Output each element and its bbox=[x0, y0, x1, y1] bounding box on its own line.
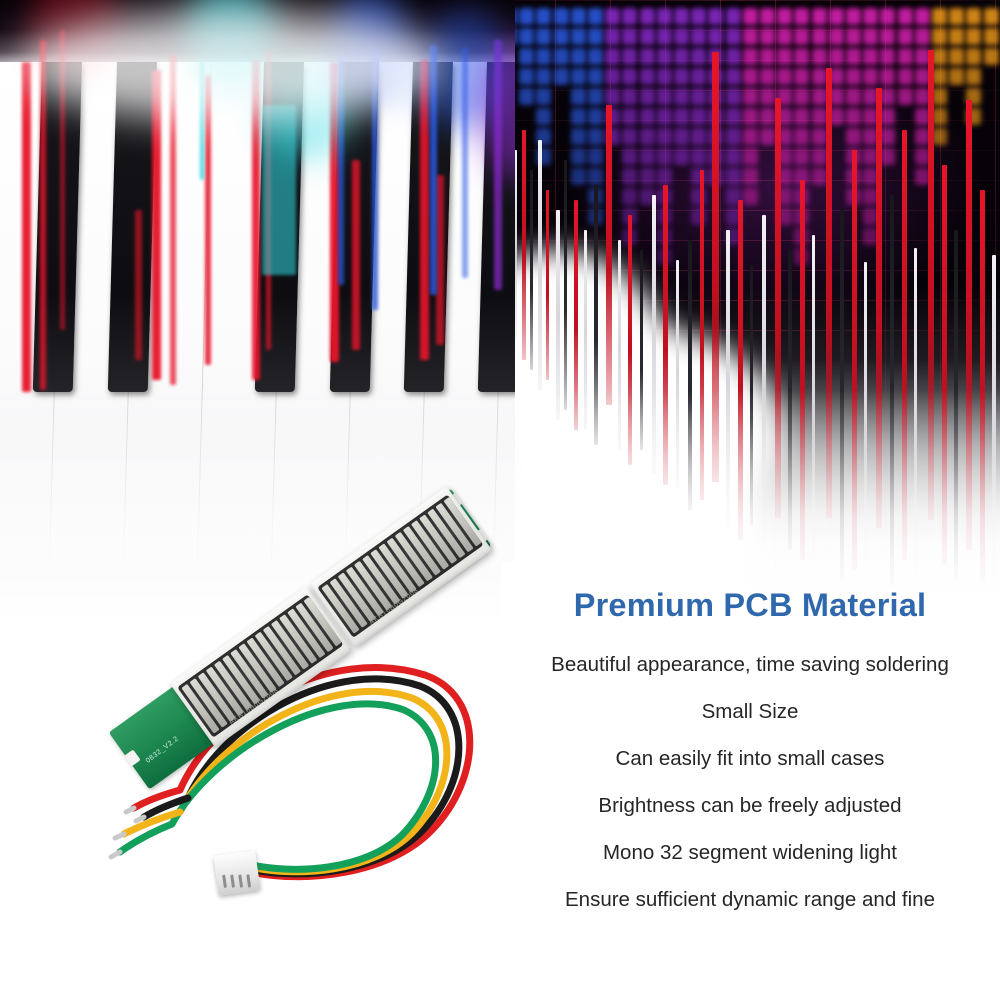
led-matrix-cell bbox=[743, 8, 758, 25]
led-matrix-cell bbox=[622, 188, 637, 205]
led-matrix-cell bbox=[657, 68, 672, 85]
waveform-spike bbox=[890, 195, 894, 585]
led-matrix-cell bbox=[622, 48, 637, 65]
led-matrix-cell bbox=[622, 108, 637, 125]
led-matrix-cell bbox=[640, 88, 655, 105]
waveform-spike bbox=[688, 240, 692, 510]
led-matrix-cell bbox=[880, 128, 895, 145]
waveform-spike bbox=[564, 160, 567, 410]
led-matrix-cell bbox=[726, 48, 741, 65]
led-matrix-cell bbox=[966, 28, 981, 45]
led-matrix-cell bbox=[949, 68, 964, 85]
led-matrix-cell bbox=[932, 128, 947, 145]
led-matrix-cell bbox=[777, 28, 792, 45]
led-matrix-cell bbox=[554, 8, 569, 25]
led-matrix-cell bbox=[674, 68, 689, 85]
led-matrix-cell bbox=[915, 28, 930, 45]
waveform-spike bbox=[628, 215, 632, 465]
waveform-spike bbox=[750, 265, 753, 525]
led-matrix-cell bbox=[743, 48, 758, 65]
led-matrix-cell bbox=[880, 8, 895, 25]
led-matrix-cell bbox=[674, 88, 689, 105]
led-matrix-cell bbox=[605, 8, 620, 25]
led-matrix-cell bbox=[949, 8, 964, 25]
marketing-text-panel: Premium PCB Material Beautiful appearanc… bbox=[500, 588, 1000, 928]
led-matrix-cell bbox=[812, 28, 827, 45]
led-matrix-cell bbox=[536, 48, 551, 65]
headline: Premium PCB Material bbox=[500, 588, 1000, 624]
pcb-silkscreen-label: 0832_V2.2 bbox=[145, 735, 180, 764]
led-matrix-cell bbox=[829, 8, 844, 25]
led-matrix-cell bbox=[880, 28, 895, 45]
led-matrix-cell bbox=[640, 48, 655, 65]
waveform-spike bbox=[914, 248, 917, 578]
led-matrix-cell bbox=[657, 168, 672, 185]
led-matrix-cell bbox=[554, 48, 569, 65]
led-matrix-cell bbox=[743, 168, 758, 185]
waveform-spike bbox=[762, 215, 766, 545]
led-matrix-cell bbox=[726, 128, 741, 145]
led-matrix-cell bbox=[519, 88, 534, 105]
led-matrix-cell bbox=[657, 8, 672, 25]
led-matrix-cell bbox=[812, 48, 827, 65]
led-matrix-cell bbox=[674, 148, 689, 165]
led-matrix-cell bbox=[812, 128, 827, 145]
led-matrix-cell bbox=[812, 168, 827, 185]
led-matrix-cell bbox=[622, 88, 637, 105]
led-matrix-cell bbox=[588, 88, 603, 105]
waveform-spike bbox=[992, 255, 996, 575]
led-matrix-cell bbox=[536, 108, 551, 125]
led-matrix-cell bbox=[743, 128, 758, 145]
led-matrix-cell bbox=[691, 28, 706, 45]
light-haze bbox=[20, 10, 440, 120]
led-matrix-cell bbox=[691, 148, 706, 165]
waveform-spike bbox=[652, 195, 656, 475]
led-matrix-cell bbox=[605, 28, 620, 45]
led-matrix-cell bbox=[743, 68, 758, 85]
waveform-spike bbox=[556, 210, 560, 420]
led-matrix-cell bbox=[863, 68, 878, 85]
led-matrix-cell bbox=[571, 168, 586, 185]
led-matrix-cell bbox=[898, 88, 913, 105]
waveform-spike bbox=[800, 180, 805, 560]
led-matrix-cell bbox=[640, 128, 655, 145]
waveform-spike bbox=[546, 190, 549, 380]
led-matrix-cell bbox=[726, 168, 741, 185]
led-matrix-cell bbox=[846, 128, 861, 145]
led-matrix-cell bbox=[760, 88, 775, 105]
led-matrix-cell bbox=[571, 28, 586, 45]
waveform-spike bbox=[676, 260, 679, 490]
led-matrix-cell bbox=[846, 48, 861, 65]
led-matrix-cell bbox=[622, 128, 637, 145]
led-matrix-cell bbox=[622, 148, 637, 165]
waveform-spike bbox=[594, 185, 598, 445]
led-matrix-cell bbox=[519, 8, 534, 25]
led-matrix-cell bbox=[760, 128, 775, 145]
waveform-spike bbox=[788, 250, 792, 550]
led-matrix-cell bbox=[794, 8, 809, 25]
led-matrix-cell bbox=[588, 28, 603, 45]
led-matrix-cell bbox=[536, 28, 551, 45]
led-matrix-cell bbox=[554, 28, 569, 45]
led-matrix-cell bbox=[863, 48, 878, 65]
led-matrix-cell bbox=[794, 68, 809, 85]
feature-list: Beautiful appearance, time saving solder… bbox=[500, 642, 1000, 924]
led-matrix-cell bbox=[640, 168, 655, 185]
led-matrix-cell bbox=[588, 8, 603, 25]
led-matrix-cell bbox=[863, 28, 878, 45]
led-matrix-cell bbox=[640, 108, 655, 125]
led-matrix-cell bbox=[932, 8, 947, 25]
led-matrix-cell bbox=[760, 68, 775, 85]
led-matrix-cell bbox=[691, 48, 706, 65]
led-matrix-cell bbox=[966, 48, 981, 65]
waveform-spike bbox=[606, 105, 612, 405]
led-matrix-cell bbox=[657, 48, 672, 65]
led-matrix-cell bbox=[743, 28, 758, 45]
jst-connector bbox=[213, 850, 260, 895]
waveform-spike bbox=[712, 52, 719, 482]
led-matrix-cell bbox=[622, 168, 637, 185]
feature-item-4: Brightness can be freely adjusted bbox=[598, 796, 901, 817]
led-matrix-cell bbox=[984, 48, 999, 65]
led-matrix-cell bbox=[519, 68, 534, 85]
led-matrix-cell bbox=[640, 8, 655, 25]
led-matrix-cell bbox=[880, 48, 895, 65]
led-matrix-cell bbox=[726, 68, 741, 85]
waveform-spike bbox=[954, 230, 958, 580]
led-matrix-cell bbox=[588, 168, 603, 185]
led-matrix-cell bbox=[984, 8, 999, 25]
led-matrix-cell bbox=[794, 128, 809, 145]
led-matrix-cell bbox=[708, 8, 723, 25]
led-matrix-cell bbox=[674, 28, 689, 45]
led-matrix-cell bbox=[571, 108, 586, 125]
led-matrix-cell bbox=[880, 148, 895, 165]
led-matrix-cell bbox=[743, 148, 758, 165]
led-matrix-cell bbox=[588, 48, 603, 65]
led-matrix-cell bbox=[863, 8, 878, 25]
led-matrix-cell bbox=[898, 8, 913, 25]
led-matrix-cell bbox=[691, 128, 706, 145]
led-matrix-cell bbox=[880, 108, 895, 125]
led-matrix-cell bbox=[691, 108, 706, 125]
led-matrix-cell bbox=[622, 8, 637, 25]
led-matrix-cell bbox=[674, 48, 689, 65]
waveform-spike bbox=[663, 185, 668, 485]
feature-item-6: Ensure sufficient dynamic range and fine bbox=[565, 890, 935, 911]
led-matrix-cell bbox=[536, 68, 551, 85]
led-matrix-cell bbox=[588, 148, 603, 165]
led-matrix-cell bbox=[794, 48, 809, 65]
led-matrix-cell bbox=[519, 28, 534, 45]
led-matrix-cell bbox=[794, 88, 809, 105]
led-matrix-cell bbox=[519, 48, 534, 65]
led-matrix-cell bbox=[915, 8, 930, 25]
led-matrix-cell bbox=[726, 88, 741, 105]
led-matrix-cell bbox=[846, 68, 861, 85]
led-matrix-cell bbox=[571, 48, 586, 65]
led-matrix-cell bbox=[657, 88, 672, 105]
led-matrix-cell bbox=[554, 68, 569, 85]
led-matrix-cell bbox=[777, 68, 792, 85]
led-matrix-cell bbox=[640, 148, 655, 165]
waveform-spike bbox=[928, 50, 934, 520]
led-matrix-cell bbox=[691, 68, 706, 85]
led-matrix-cell bbox=[932, 48, 947, 65]
led-matrix-cell bbox=[932, 88, 947, 105]
led-matrix-cell bbox=[812, 148, 827, 165]
led-matrix-cell bbox=[588, 68, 603, 85]
led-matrix-cell bbox=[691, 88, 706, 105]
led-matrix-cell bbox=[571, 128, 586, 145]
waveform-spike bbox=[640, 250, 643, 450]
led-matrix-cell bbox=[794, 108, 809, 125]
led-matrix-cell bbox=[536, 88, 551, 105]
key-light-streak bbox=[352, 160, 360, 350]
led-matrix-cell bbox=[932, 68, 947, 85]
led-matrix-cell bbox=[812, 108, 827, 125]
led-matrix-cell bbox=[674, 108, 689, 125]
waveform-spike bbox=[942, 165, 947, 565]
led-matrix-cell bbox=[966, 8, 981, 25]
led-matrix-cell bbox=[674, 128, 689, 145]
led-matrix-cell bbox=[760, 108, 775, 125]
led-matrix-cell bbox=[898, 48, 913, 65]
led-matrix-cell bbox=[622, 28, 637, 45]
led-matrix-cell bbox=[846, 28, 861, 45]
led-matrix-cell bbox=[571, 8, 586, 25]
led-matrix-cell bbox=[657, 148, 672, 165]
waveform-spike bbox=[775, 98, 781, 518]
led-matrix-cell bbox=[760, 48, 775, 65]
waveform-spike bbox=[812, 235, 815, 565]
waveform-spike bbox=[538, 140, 542, 390]
led-matrix-cell bbox=[846, 108, 861, 125]
led-matrix-cell bbox=[743, 188, 758, 205]
waveform-spike bbox=[864, 262, 867, 562]
led-matrix-cell bbox=[640, 28, 655, 45]
led-matrix-cell bbox=[760, 8, 775, 25]
product-photo: 0832_V2.2 AKB16B0G200 bbox=[30, 460, 510, 940]
led-matrix-cell bbox=[743, 88, 758, 105]
led-matrix-cell bbox=[657, 108, 672, 125]
waveform-spike bbox=[876, 88, 882, 528]
led-matrix-cell bbox=[691, 8, 706, 25]
led-matrix-cell bbox=[794, 148, 809, 165]
led-matrix-cell bbox=[898, 68, 913, 85]
led-matrix-cell bbox=[657, 28, 672, 45]
led-matrix-cell bbox=[812, 68, 827, 85]
key-light-streak bbox=[436, 175, 444, 345]
led-matrix-cell bbox=[777, 48, 792, 65]
waveform-spike bbox=[618, 240, 621, 450]
led-matrix-cell bbox=[726, 108, 741, 125]
feature-item-2: Small Size bbox=[702, 702, 799, 723]
led-matrix-cell bbox=[743, 108, 758, 125]
waveform-spike bbox=[826, 68, 832, 518]
led-matrix-cell bbox=[829, 28, 844, 45]
waveform-spike bbox=[522, 130, 526, 360]
led-matrix-cell bbox=[588, 108, 603, 125]
led-matrix-cell bbox=[932, 28, 947, 45]
key-light-streak bbox=[135, 210, 142, 360]
led-matrix-cell bbox=[622, 68, 637, 85]
led-matrix-cell bbox=[846, 8, 861, 25]
led-matrix-cell bbox=[657, 128, 672, 145]
led-matrix-cell bbox=[777, 8, 792, 25]
led-matrix-cell bbox=[571, 148, 586, 165]
waveform-spike bbox=[902, 130, 907, 560]
grid-line bbox=[500, 0, 1000, 1]
led-matrix-cell bbox=[571, 88, 586, 105]
led-matrix-cell bbox=[708, 28, 723, 45]
key-light-streak bbox=[22, 62, 31, 392]
waveform-spike bbox=[980, 190, 985, 580]
led-matrix-cell bbox=[984, 28, 999, 45]
feature-item-5: Mono 32 segment widening light bbox=[603, 843, 897, 864]
waveform-spike bbox=[530, 170, 533, 370]
led-matrix-cell bbox=[880, 68, 895, 85]
feature-item-1: Beautiful appearance, time saving solder… bbox=[551, 655, 949, 676]
waveform-spike bbox=[966, 100, 972, 550]
led-matrix-cell bbox=[726, 148, 741, 165]
led-matrix-cell bbox=[605, 88, 620, 105]
led-matrix-cell bbox=[760, 28, 775, 45]
led-matrix-cell bbox=[966, 68, 981, 85]
key-light-streak bbox=[40, 40, 46, 390]
waveform-spike bbox=[738, 200, 743, 540]
led-matrix-cell bbox=[880, 88, 895, 105]
led-matrix-cell bbox=[726, 28, 741, 45]
led-matrix-cell bbox=[846, 88, 861, 105]
led-matrix-cell bbox=[640, 68, 655, 85]
led-matrix-cell bbox=[571, 68, 586, 85]
led-matrix-cell bbox=[674, 8, 689, 25]
waveform-spike bbox=[840, 210, 844, 580]
led-matrix-cell bbox=[829, 48, 844, 65]
product-marketing-image: 0832_V2.2 AKB16B0G200 bbox=[0, 0, 1000, 1000]
led-matrix-cell bbox=[605, 48, 620, 65]
led-matrix-cell bbox=[949, 28, 964, 45]
led-matrix-cell bbox=[605, 68, 620, 85]
waveform-spike bbox=[726, 230, 730, 530]
led-matrix-cell bbox=[812, 8, 827, 25]
waveform-spike bbox=[584, 230, 587, 430]
led-matrix-cell bbox=[898, 28, 913, 45]
led-matrix-cell bbox=[726, 8, 741, 25]
spectrum-analyzer-graphic bbox=[500, 0, 1000, 620]
waveform-spike bbox=[852, 150, 857, 570]
led-matrix-cell bbox=[949, 48, 964, 65]
feature-item-3: Can easily fit into small cases bbox=[616, 749, 885, 770]
led-matrix-cell bbox=[588, 128, 603, 145]
led-matrix-cell bbox=[812, 88, 827, 105]
led-matrix-cell bbox=[932, 108, 947, 125]
led-matrix-cell bbox=[794, 28, 809, 45]
waveform-spike bbox=[574, 200, 578, 430]
waveform-spike bbox=[700, 170, 704, 500]
led-matrix-cell bbox=[536, 8, 551, 25]
